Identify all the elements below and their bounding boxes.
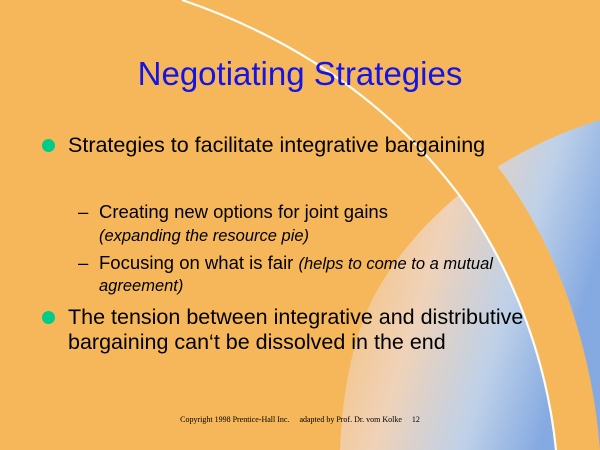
footer-page-number: 12 [412,415,420,424]
dash-marker-icon: – [78,201,88,223]
bullet-level1-1: Strategies to facilitate integrative bar… [42,133,562,158]
bullet-level1-2: The tension between integrative and dist… [42,305,562,355]
footer-gap1 [289,415,299,424]
footer-gap2 [402,415,412,424]
bullet-level2-1: – Creating new options for joint gains [78,201,558,223]
page-title: Negotiating Strategies [0,55,600,93]
bullet-level2-1-text: Creating new options for joint gains [99,201,558,223]
bullet-level2-2-main: Focusing on what is fair [99,252,298,273]
bullet-level2-2-text: Focusing on what is fair (helps to come … [99,252,558,297]
slide-content: Negotiating Strategies Strategies to fac… [0,0,600,450]
bullet-level2-2: – Focusing on what is fair (helps to com… [78,252,558,297]
footer-copyright: Copyright 1998 Prentice-Hall Inc. [180,415,289,424]
slide: Negotiating Strategies Strategies to fac… [0,0,600,450]
bullet-marker-icon [42,139,55,152]
footer-adapted: adapted by Prof. Dr. vom Kolke [299,415,401,424]
bullet-level2-1-note: (expanding the resource pie) [99,227,309,246]
bullet-marker-icon [42,311,55,324]
dash-marker-icon: – [78,252,88,274]
bullet-level1-1-text: Strategies to facilitate integrative bar… [68,133,562,158]
slide-footer: Copyright 1998 Prentice-Hall Inc. adapte… [0,415,600,424]
bullet-level1-2-text: The tension between integrative and dist… [68,305,562,355]
